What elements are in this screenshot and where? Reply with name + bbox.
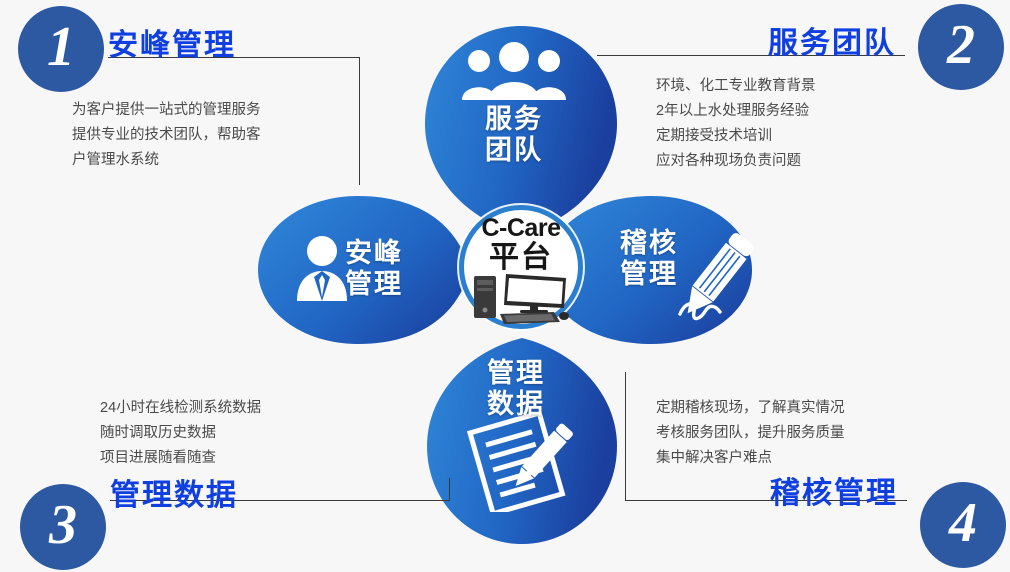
- body-line: 考核服务团队，提升服务质量: [656, 421, 845, 446]
- quadrant-body-2: 环境、化工专业教育背景 2年以上水处理服务经验 定期接受技术培训 应对各种现场负…: [656, 74, 816, 174]
- petal-label-audit-management: 稽核 管理: [620, 228, 678, 290]
- leader-line-3-vertical: [449, 478, 450, 501]
- body-line: 24小时在线检测系统数据: [100, 396, 261, 421]
- infographic-canvas: 服务 团队 管理 数据 安峰 管理 稽核 管理 C-Care 平台: [0, 0, 1010, 572]
- businessman-icon: [292, 235, 352, 306]
- desktop-computer-icon: [472, 272, 570, 329]
- badge-number-2[interactable]: 2: [918, 4, 1004, 90]
- quadrant-body-4: 定期稽核现场，了解真实情况 考核服务团队，提升服务质量 集中解决客户难点: [656, 396, 845, 471]
- badge-number-3[interactable]: 3: [20, 484, 106, 570]
- body-line: 2年以上水处理服务经验: [656, 99, 816, 124]
- body-line: 环境、化工专业教育背景: [656, 74, 816, 99]
- badge-number-1[interactable]: 1: [18, 6, 104, 92]
- clipboard-pencil-icon: [466, 412, 576, 517]
- badge-number-4[interactable]: 4: [920, 482, 1006, 568]
- petal-label-management-data: 管理 数据: [487, 358, 545, 420]
- three-people-icon: [462, 42, 566, 105]
- body-line: 项目进展随看随查: [100, 446, 261, 471]
- quadrant-heading-4: 稽核管理: [770, 468, 898, 512]
- quadrant-heading-1: 安峰管理: [108, 20, 236, 64]
- body-line: 提供专业的技术团队，帮助客: [72, 123, 261, 148]
- pencil-signature-icon: [676, 228, 762, 335]
- leader-line-1-vertical: [359, 57, 360, 185]
- petal-label-anfeng-management: 安峰 管理: [345, 238, 403, 300]
- body-line: 为客户提供一站式的管理服务: [72, 98, 261, 123]
- body-line: 随时调取历史数据: [100, 421, 261, 446]
- body-line: 应对各种现场负责问题: [656, 149, 816, 174]
- petal-label-service-team: 服务 团队: [485, 104, 543, 166]
- quadrant-heading-3: 管理数据: [110, 470, 238, 514]
- quadrant-body-3: 24小时在线检测系统数据 随时调取历史数据 项目进展随看随查: [100, 396, 261, 471]
- body-line: 定期接受技术培训: [656, 124, 816, 149]
- quadrant-body-1: 为客户提供一站式的管理服务 提供专业的技术团队，帮助客 户管理水系统: [72, 98, 261, 173]
- body-line: 集中解决客户难点: [656, 446, 845, 471]
- body-line: 定期稽核现场，了解真实情况: [656, 396, 845, 421]
- quadrant-heading-2: 服务团队: [768, 18, 896, 62]
- body-line: 户管理水系统: [72, 148, 261, 173]
- leader-line-4-vertical: [625, 372, 626, 500]
